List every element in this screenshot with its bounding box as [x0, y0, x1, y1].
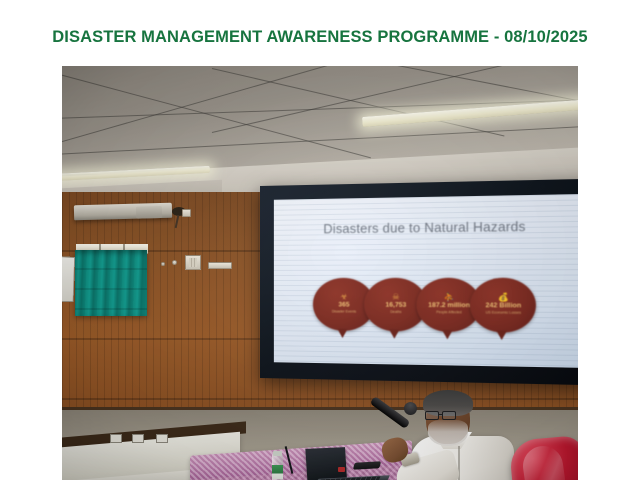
event-photo: Disasters due to Natural Hazards ☣ 365 D… [62, 66, 578, 480]
wall-socket[interactable] [161, 262, 165, 266]
speaker-person [392, 390, 524, 480]
air-conditioner [74, 203, 172, 221]
projector-screen: Disasters due to Natural Hazards ☣ 365 D… [260, 179, 578, 386]
stage-panel [156, 434, 168, 443]
page-root: DISASTER MANAGEMENT AWARENESS PROGRAMME … [0, 0, 640, 480]
wall-socket[interactable] [172, 260, 177, 265]
stat-label: People Affected [436, 311, 461, 315]
microphone-head [401, 399, 419, 417]
deaths-icon: ☠ [392, 294, 400, 302]
glasses-bridge [439, 414, 443, 415]
speaker-beard [428, 420, 468, 446]
window-curtain [75, 250, 147, 316]
people-icon: ⛹ [444, 294, 455, 302]
slide-title: Disasters due to Natural Hazards [274, 218, 578, 236]
stage-panel [110, 434, 122, 443]
projected-slide: Disasters due to Natural Hazards ☣ 365 D… [274, 194, 578, 368]
presenter-remote [353, 461, 381, 469]
stat-value: 187.2 million [428, 303, 470, 310]
wall-plate [208, 262, 232, 269]
page-title: DISASTER MANAGEMENT AWARENESS PROGRAMME … [0, 28, 640, 47]
hazard-icon: ☣ [340, 294, 347, 302]
stat-label: Deaths [390, 311, 401, 315]
stat-label: Disaster Events [332, 311, 356, 315]
glasses-icon [442, 411, 456, 420]
stage-panel [132, 434, 144, 443]
glasses-icon [425, 411, 439, 420]
bottle-label [272, 465, 283, 479]
laptop-screen [305, 447, 347, 480]
slide-stat-bubble: 💰 242 Billion US Economic Losses [471, 277, 537, 332]
stat-label: US Economic Losses [486, 312, 521, 316]
stat-value: 242 Billion [485, 303, 521, 310]
stat-value: 365 [338, 303, 349, 310]
red-object [338, 467, 345, 472]
money-icon: 💰 [498, 294, 509, 302]
wall-plate [182, 209, 191, 217]
slide-stat-bubbles: ☣ 365 Disaster Events ☠ 16,753 Deaths ⛹ … [297, 277, 555, 350]
stat-value: 16,753 [385, 303, 406, 310]
light-switch-panel[interactable] [185, 255, 201, 270]
whiteboard [62, 255, 75, 302]
bottle-cap [273, 451, 282, 456]
